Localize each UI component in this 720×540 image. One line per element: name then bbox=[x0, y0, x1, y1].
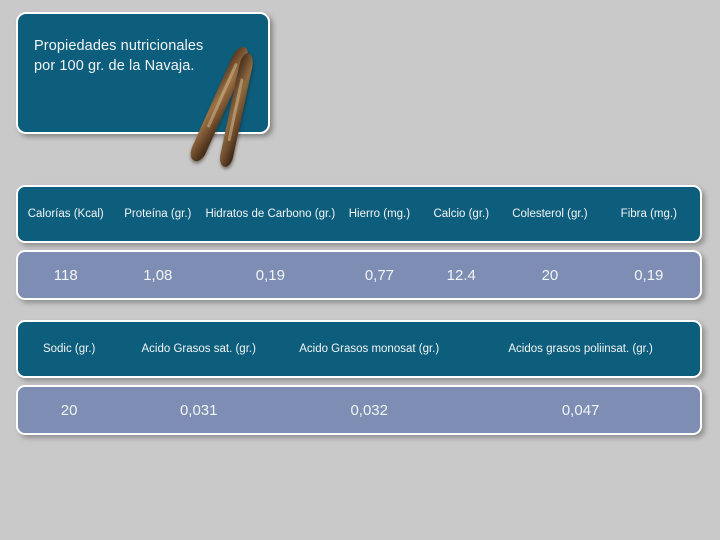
table-header-row: Sodic (gr.)Ácido Grasos sat. (gr.)Ácido … bbox=[16, 320, 702, 378]
table-cell-value: 118 bbox=[18, 267, 113, 284]
table-column-header: Hierro (mg.) bbox=[339, 208, 421, 220]
table-column-header: Fibra (mg.) bbox=[598, 208, 700, 220]
table-value-row: 200,0310,0320,047 bbox=[16, 385, 702, 435]
table-column-header: Proteína (gr.) bbox=[113, 208, 202, 220]
table-column-header: Colesterol (gr.) bbox=[502, 208, 597, 220]
table-cell-value: 0,19 bbox=[598, 267, 700, 284]
table-column-header: Hidratos de Carbono (gr.) bbox=[202, 208, 338, 220]
table-cell-value: 12.4 bbox=[420, 267, 502, 284]
table-cell-value: 0,19 bbox=[202, 267, 338, 284]
table-cell-value: 1,08 bbox=[113, 267, 202, 284]
table-column-header: Ácido Grasos sat. (gr.) bbox=[120, 343, 277, 355]
table-column-header: Calorías (Kcal) bbox=[18, 208, 113, 220]
table-cell-value: 0,031 bbox=[120, 402, 277, 419]
table-cell-value: 0,047 bbox=[461, 402, 700, 419]
razor-clam-shells-photo bbox=[182, 38, 290, 168]
table-cell-value: 20 bbox=[502, 267, 597, 284]
table-column-header: Calcio (gr.) bbox=[420, 208, 502, 220]
table-header-row: Calorías (Kcal)Proteína (gr.)Hidratos de… bbox=[16, 185, 702, 243]
table-cell-value: 0,032 bbox=[277, 402, 461, 419]
table-column-header: Ácidos grasos poliinsat. (gr.) bbox=[461, 343, 700, 355]
table-cell-value: 0,77 bbox=[339, 267, 421, 284]
table-cell-value: 20 bbox=[18, 402, 120, 419]
table-column-header: Ácido Grasos monosat (gr.) bbox=[277, 343, 461, 355]
table-value-row: 1181,080,190,7712.4200,19 bbox=[16, 250, 702, 300]
table-column-header: Sodic (gr.) bbox=[18, 343, 120, 355]
